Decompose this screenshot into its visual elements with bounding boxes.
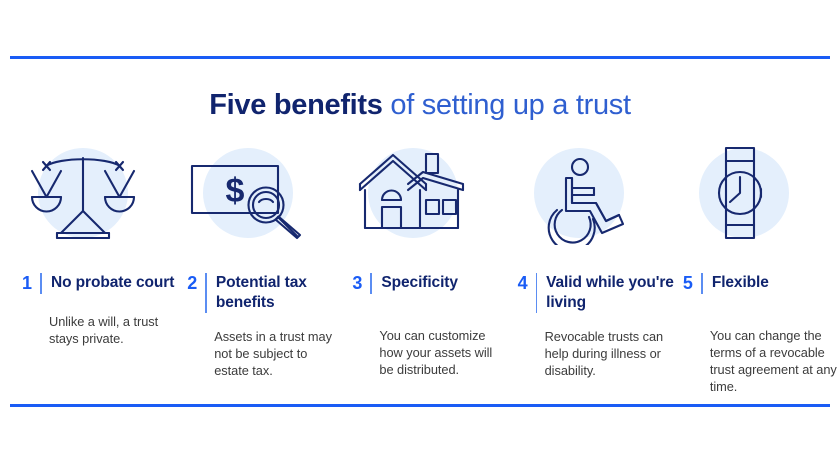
- benefit-body-3: You can customize how your assets will b…: [379, 327, 509, 378]
- benefit-number-1: 1: [22, 273, 40, 294]
- benefit-heading-5: Flexible: [712, 273, 769, 293]
- number-heading-divider: [536, 273, 538, 313]
- wheelchair-accessibility-icon: [518, 145, 658, 245]
- benefit-heading-3: Specificity: [381, 273, 457, 293]
- benefits-row: 1 No probate court Unlike a will, a trus…: [0, 145, 840, 395]
- benefit-heading-row-2: 2 Potential tax benefits: [187, 273, 344, 313]
- benefit-body-2: Assets in a trust may not be subject to …: [214, 328, 344, 379]
- wristwatch-icon: [683, 145, 823, 245]
- number-heading-divider: [370, 273, 372, 294]
- benefit-number-5: 5: [683, 273, 701, 294]
- svg-text:$: $: [226, 172, 245, 210]
- benefit-item-4: 4 Valid while you're living Revocable tr…: [510, 145, 675, 395]
- top-divider-rule: [10, 56, 830, 59]
- benefit-heading-1: No probate court: [51, 273, 174, 293]
- benefit-body-1: Unlike a will, a trust stays private.: [49, 313, 179, 347]
- number-heading-divider: [701, 273, 703, 294]
- number-heading-divider: [205, 273, 207, 313]
- number-heading-divider: [40, 273, 42, 294]
- benefit-icon-wrap-2: $: [187, 145, 327, 245]
- benefit-item-2: $ 2 Potential tax benefits Assets in a t…: [179, 145, 344, 395]
- benefit-item-3: 3 Specificity You can customize how your…: [344, 145, 509, 395]
- benefit-number-4: 4: [518, 273, 536, 294]
- benefit-icon-wrap-1: [22, 145, 162, 245]
- money-magnifier-icon: $: [187, 145, 327, 245]
- benefit-item-5: 5 Flexible You can change the terms of a…: [675, 145, 840, 395]
- scales-of-justice-icon: [22, 145, 162, 245]
- benefit-heading-row-5: 5 Flexible: [683, 273, 840, 294]
- infographic-page: Five benefits of setting up a trust: [0, 0, 840, 472]
- benefit-body-4: Revocable trusts can help during illness…: [545, 328, 675, 379]
- benefit-icon-wrap-3: [352, 145, 492, 245]
- page-title-strong: Five benefits: [209, 89, 382, 121]
- benefit-body-5: You can change the terms of a revocable …: [710, 327, 840, 395]
- benefit-icon-wrap-5: [683, 145, 823, 245]
- bottom-divider-rule: [10, 404, 830, 407]
- page-title: Five benefits of setting up a trust: [0, 88, 840, 122]
- benefit-icon-wrap-4: [518, 145, 658, 245]
- benefit-heading-row-1: 1 No probate court: [22, 273, 179, 294]
- benefit-heading-4: Valid while you're living: [546, 273, 675, 313]
- house-icon: [352, 145, 492, 245]
- benefit-number-2: 2: [187, 273, 205, 294]
- benefit-heading-row-4: 4 Valid while you're living: [518, 273, 675, 313]
- benefit-item-1: 1 No probate court Unlike a will, a trus…: [14, 145, 179, 395]
- benefit-heading-row-3: 3 Specificity: [352, 273, 509, 294]
- page-title-rest: of setting up a trust: [383, 89, 631, 121]
- benefit-heading-2: Potential tax benefits: [216, 273, 345, 313]
- benefit-number-3: 3: [352, 273, 370, 294]
